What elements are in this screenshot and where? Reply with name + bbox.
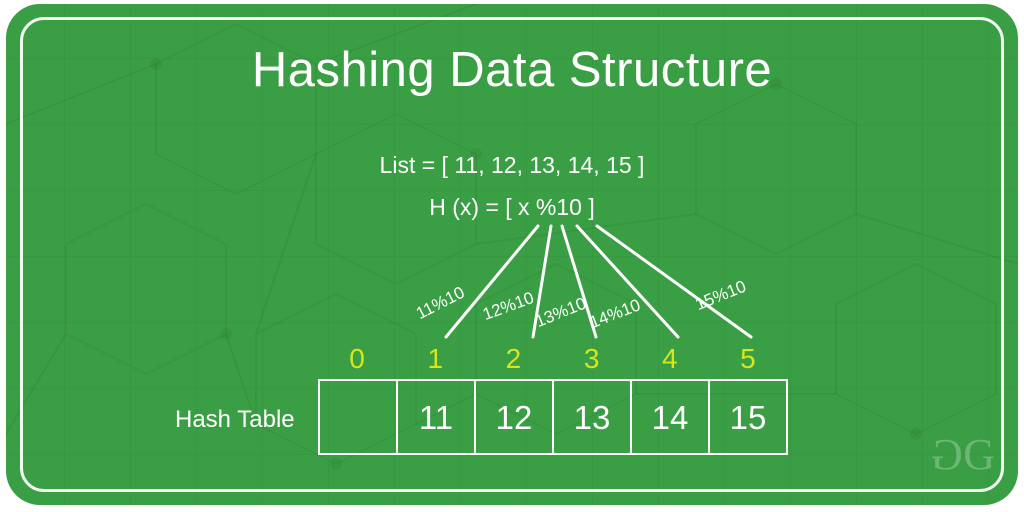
bucket-index-1: 1 — [396, 342, 474, 376]
hash-table-cell-5: 15 — [710, 381, 786, 453]
hash-table-cell-4: 14 — [632, 381, 710, 453]
connector-line-1 — [533, 226, 551, 337]
hash-table-cell-3: 13 — [554, 381, 632, 453]
hash-table-cell-2: 12 — [476, 381, 554, 453]
bucket-index-3: 3 — [553, 342, 631, 376]
screenshot-root: Hashing Data Structure List = [ 11, 12, … — [0, 0, 1024, 512]
bucket-index-row: 012345 — [318, 342, 787, 376]
connector-line-0 — [446, 226, 538, 337]
hash-table-cell-0 — [320, 381, 398, 453]
bucket-index-5: 5 — [709, 342, 787, 376]
mod-label-3: 14%10 — [587, 295, 644, 333]
logo-g: G — [963, 430, 994, 479]
mod-label-2: 13%10 — [533, 294, 590, 332]
geeksforgeeks-logo: GG — [932, 433, 994, 477]
logo-g-reversed: G — [932, 433, 963, 477]
mod-label-1: 12%10 — [480, 288, 537, 325]
bucket-index-4: 4 — [631, 342, 709, 376]
page-title: Hashing Data Structure — [6, 42, 1018, 98]
hash-table-label: Hash Table — [175, 406, 295, 434]
connector-line-2 — [562, 226, 596, 337]
hash-table-cell-1: 11 — [398, 381, 476, 453]
hash-table: 1112131415 — [318, 379, 788, 455]
mod-label-0: 11%10 — [413, 283, 468, 324]
bucket-index-2: 2 — [474, 342, 552, 376]
input-list-text: List = [ 11, 12, 13, 14, 15 ] — [6, 152, 1018, 179]
bucket-index-0: 0 — [318, 342, 396, 376]
connector-line-4 — [597, 226, 751, 337]
slide-card: Hashing Data Structure List = [ 11, 12, … — [6, 4, 1018, 505]
mod-label-4: 15%10 — [693, 277, 750, 315]
hash-function-text: H (x) = [ x %10 ] — [6, 194, 1018, 221]
connector-line-3 — [577, 226, 678, 337]
